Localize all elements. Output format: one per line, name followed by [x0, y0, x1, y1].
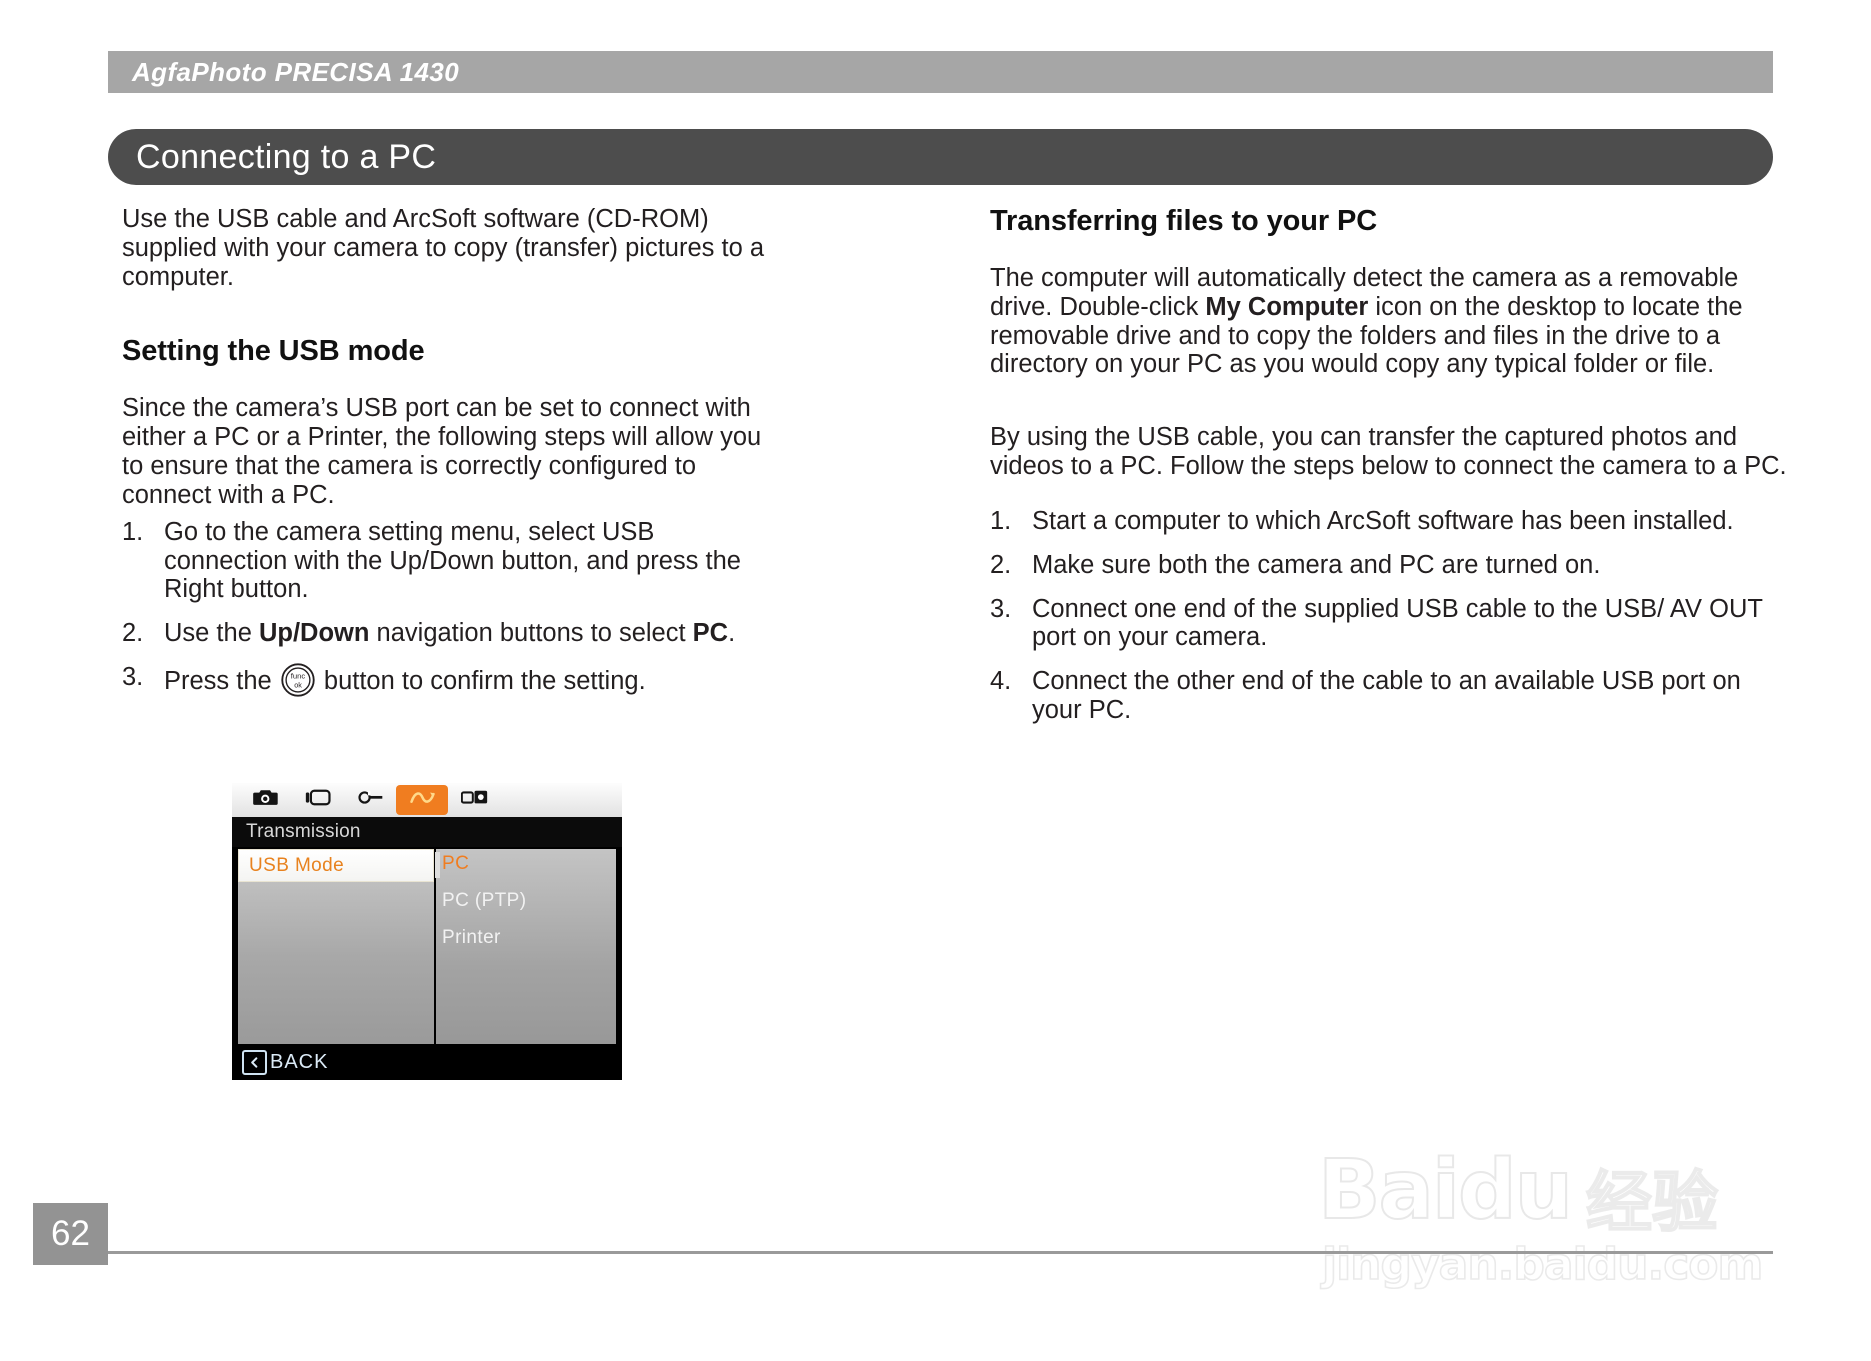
baidu-watermark: Baidu 经验 jingyan.baidu.com	[1318, 1143, 1788, 1313]
step-text-part: .	[728, 619, 735, 647]
baidu-logo-text: Baidu	[1318, 1143, 1571, 1238]
film-icon	[305, 788, 332, 812]
svg-text:func: func	[291, 672, 306, 681]
camera-lcd-screenshot: Transmission USB Mode PC PC (PTP) Printe…	[232, 783, 622, 1080]
transferring-paragraph-2: By using the USB cable, you can transfer…	[990, 423, 1790, 481]
list-item: 3. Connect one end of the supplied USB c…	[990, 595, 1790, 653]
step-text: Make sure both the camera and PC are tur…	[1032, 551, 1790, 580]
page-number-badge: 62	[33, 1203, 108, 1265]
lcd-back-button[interactable]: BACK	[232, 1044, 622, 1080]
step-number: 1.	[990, 507, 1032, 536]
setting-usb-mode-heading: Setting the USB mode	[122, 335, 782, 368]
lcd-tab-connection[interactable]	[448, 785, 500, 815]
func-ok-button-icon: funcok	[281, 663, 315, 697]
chapter-title-banner: Connecting to a PC	[108, 129, 1773, 185]
lcd-tab-capture[interactable]	[240, 785, 292, 815]
left-column: Use the USB cable and ArcSoft software (…	[122, 205, 782, 712]
transfer-steps-list: 1. Start a computer to which ArcSoft sof…	[990, 507, 1790, 725]
step-number: 1.	[122, 518, 164, 547]
list-item: 2. Use the Up/Down navigation buttons to…	[122, 619, 782, 648]
step-number: 2.	[990, 551, 1032, 580]
lcd-tab-transmission[interactable]	[396, 785, 448, 815]
lcd-option-pc[interactable]: PC	[442, 853, 469, 875]
baidu-logo-cn: 经验	[1586, 1149, 1718, 1245]
step-text: Start a computer to which ArcSoft softwa…	[1032, 507, 1790, 536]
product-title: AgfaPhoto PRECISA 1430	[108, 57, 459, 88]
list-item: 1. Go to the camera setting menu, select…	[122, 518, 782, 604]
lcd-menu-title-bar: Transmission	[232, 817, 622, 847]
step-number: 4.	[990, 667, 1032, 696]
step-text: Go to the camera setting menu, select US…	[164, 518, 782, 604]
step-text: Press the funcok button to confirm the s…	[164, 663, 782, 697]
wrench-icon	[357, 789, 384, 811]
step-number: 3.	[990, 595, 1032, 624]
chevron-left-icon	[242, 1050, 267, 1075]
step-text-part: Press the	[164, 667, 279, 695]
step-number: 3.	[122, 663, 164, 692]
footer-rule	[108, 1251, 1773, 1254]
transferring-files-heading: Transferring files to your PC	[990, 205, 1790, 238]
lcd-tab-bar	[232, 783, 622, 817]
list-item: 1. Start a computer to which ArcSoft sof…	[990, 507, 1790, 536]
lcd-option-printer[interactable]: Printer	[442, 927, 501, 949]
step-emphasis-updown: Up/Down	[259, 619, 369, 647]
chapter-title: Connecting to a PC	[108, 138, 436, 177]
my-computer-emphasis: My Computer	[1205, 293, 1368, 321]
lcd-setting-label: USB Mode	[239, 855, 344, 877]
page-number: 62	[51, 1214, 90, 1254]
step-number: 2.	[122, 619, 164, 648]
svg-text:ok: ok	[294, 681, 302, 690]
usb-mode-steps-list: 1. Go to the camera setting menu, select…	[122, 518, 782, 697]
list-item: 2. Make sure both the camera and PC are …	[990, 551, 1790, 580]
av-out-icon	[461, 789, 488, 811]
step-text-part: button to confirm the setting.	[317, 667, 646, 695]
list-item: 4. Connect the other end of the cable to…	[990, 667, 1790, 725]
step-emphasis-pc: PC	[693, 619, 728, 647]
transferring-paragraph-1: The computer will automatically detect t…	[990, 264, 1790, 379]
step-text-part: navigation buttons to select	[369, 619, 692, 647]
transmission-arrow-icon	[409, 789, 436, 811]
step-text: Connect the other end of the cable to an…	[1032, 667, 1790, 725]
camera-icon	[253, 788, 280, 813]
lcd-setting-row-usb-mode[interactable]: USB Mode	[238, 849, 434, 882]
lcd-tab-setup[interactable]	[344, 785, 396, 815]
lcd-selection-cursor	[435, 852, 440, 878]
setting-usb-mode-intro: Since the camera’s USB port can be set t…	[122, 394, 782, 509]
step-text-part: Use the	[164, 619, 259, 647]
lcd-back-label: BACK	[270, 1051, 328, 1074]
step-text: Connect one end of the supplied USB cabl…	[1032, 595, 1790, 653]
lcd-tab-playback[interactable]	[292, 785, 344, 815]
running-header-bar: AgfaPhoto PRECISA 1430	[108, 51, 1773, 93]
baidu-watermark-url: jingyan.baidu.com	[1322, 1239, 1762, 1290]
step-text: Use the Up/Down navigation buttons to se…	[164, 619, 782, 648]
right-column: Transferring files to your PC The comput…	[990, 205, 1790, 740]
left-intro-paragraph: Use the USB cable and ArcSoft software (…	[122, 205, 782, 291]
lcd-option-pc-ptp[interactable]: PC (PTP)	[442, 890, 526, 912]
list-item: 3. Press the funcok button to confirm th…	[122, 663, 782, 697]
lcd-menu-title: Transmission	[232, 821, 361, 843]
